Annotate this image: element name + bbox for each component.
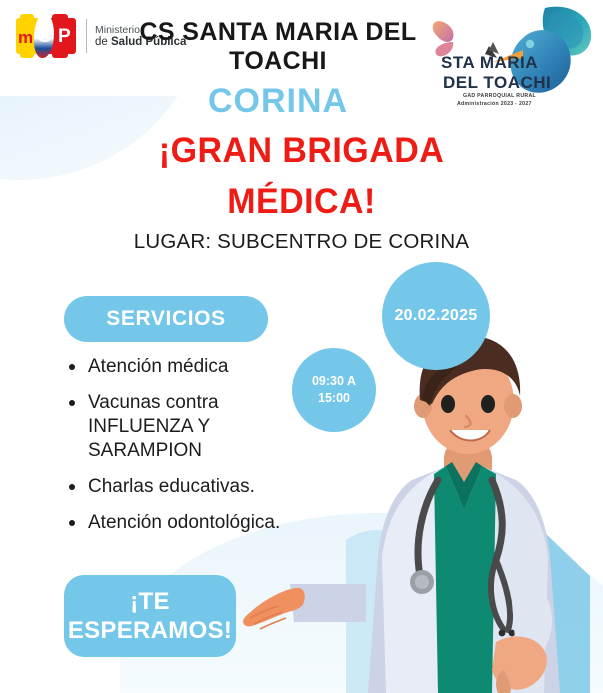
list-item: Charlas educativas. [62, 475, 312, 499]
title-line-1: CS SANTA MARIA DEL [128, 18, 428, 47]
doctor-illustration [346, 330, 603, 693]
service-label: Charlas educativas. [88, 476, 255, 497]
ministry-line-2-prefix: de [95, 36, 111, 48]
time-line-1: 09:30 A [312, 373, 356, 391]
poster-canvas: m S P Ministerio de Salud Pública CS SAN… [0, 0, 603, 693]
date-badge: 20.02.2025 [382, 262, 490, 370]
ministry-logo-divider [86, 19, 87, 53]
title-line-2: TOACHI [128, 47, 428, 76]
service-label: Vacunas contra INFLUENZA Y SARAMPION [88, 392, 219, 461]
service-label: Atención odontológica. [88, 512, 280, 533]
place-text: LUGAR: SUBCENTRO DE CORINA [0, 230, 603, 254]
outstretched-hand-illustration [236, 578, 366, 648]
page-title: CS SANTA MARIA DEL TOACHI [128, 18, 428, 76]
svg-text:DEL TOACHI: DEL TOACHI [443, 73, 551, 92]
poster-header: m S P Ministerio de Salud Pública CS SAN… [0, 0, 603, 120]
msp-letter-p: P [58, 26, 71, 48]
headline-line-2: MÉDICA! [9, 177, 594, 228]
msp-letter-s: S [38, 25, 51, 48]
svg-text:GAD PARROQUIAL RURAL: GAD PARROQUIAL RURAL [463, 93, 536, 99]
msp-letter-m: m [18, 28, 33, 48]
svg-text:STA MARIA: STA MARIA [441, 53, 538, 72]
title-highlight: CORINA [128, 82, 428, 121]
services-badge: SERVICIOS [64, 296, 268, 342]
services-list: Atención médica Vacunas contra INFLUENZA… [62, 355, 312, 547]
list-item: Atención odontológica. [62, 511, 312, 535]
service-label: Atención médica [88, 356, 228, 377]
svg-text:Administración 2023 - 2027: Administración 2023 - 2027 [457, 101, 532, 107]
time-badge: 09:30 A 15:00 [292, 348, 376, 432]
call-to-action-badge: ¡TE ESPERAMOS! [64, 575, 236, 657]
date-text: 20.02.2025 [394, 307, 477, 325]
cta-line-2: ESPERAMOS! [68, 616, 232, 645]
list-item: Atención médica [62, 355, 312, 379]
services-badge-label: SERVICIOS [106, 307, 225, 331]
cta-line-1: ¡TE [68, 587, 232, 616]
gad-logo-text: STA MARIA DEL TOACHI GAD PARROQUIAL RURA… [441, 53, 551, 107]
list-item: Vacunas contra INFLUENZA Y SARAMPION [62, 391, 312, 463]
headline: ¡GRAN BRIGADA MÉDICA! [9, 126, 594, 228]
headline-line-1: ¡GRAN BRIGADA [159, 131, 444, 170]
gad-toachi-logo: STA MARIA DEL TOACHI GAD PARROQUIAL RURA… [427, 2, 597, 120]
time-line-2: 15:00 [312, 390, 356, 408]
butterfly-icon [433, 21, 454, 56]
msp-logo-mark: m S P [16, 14, 78, 58]
